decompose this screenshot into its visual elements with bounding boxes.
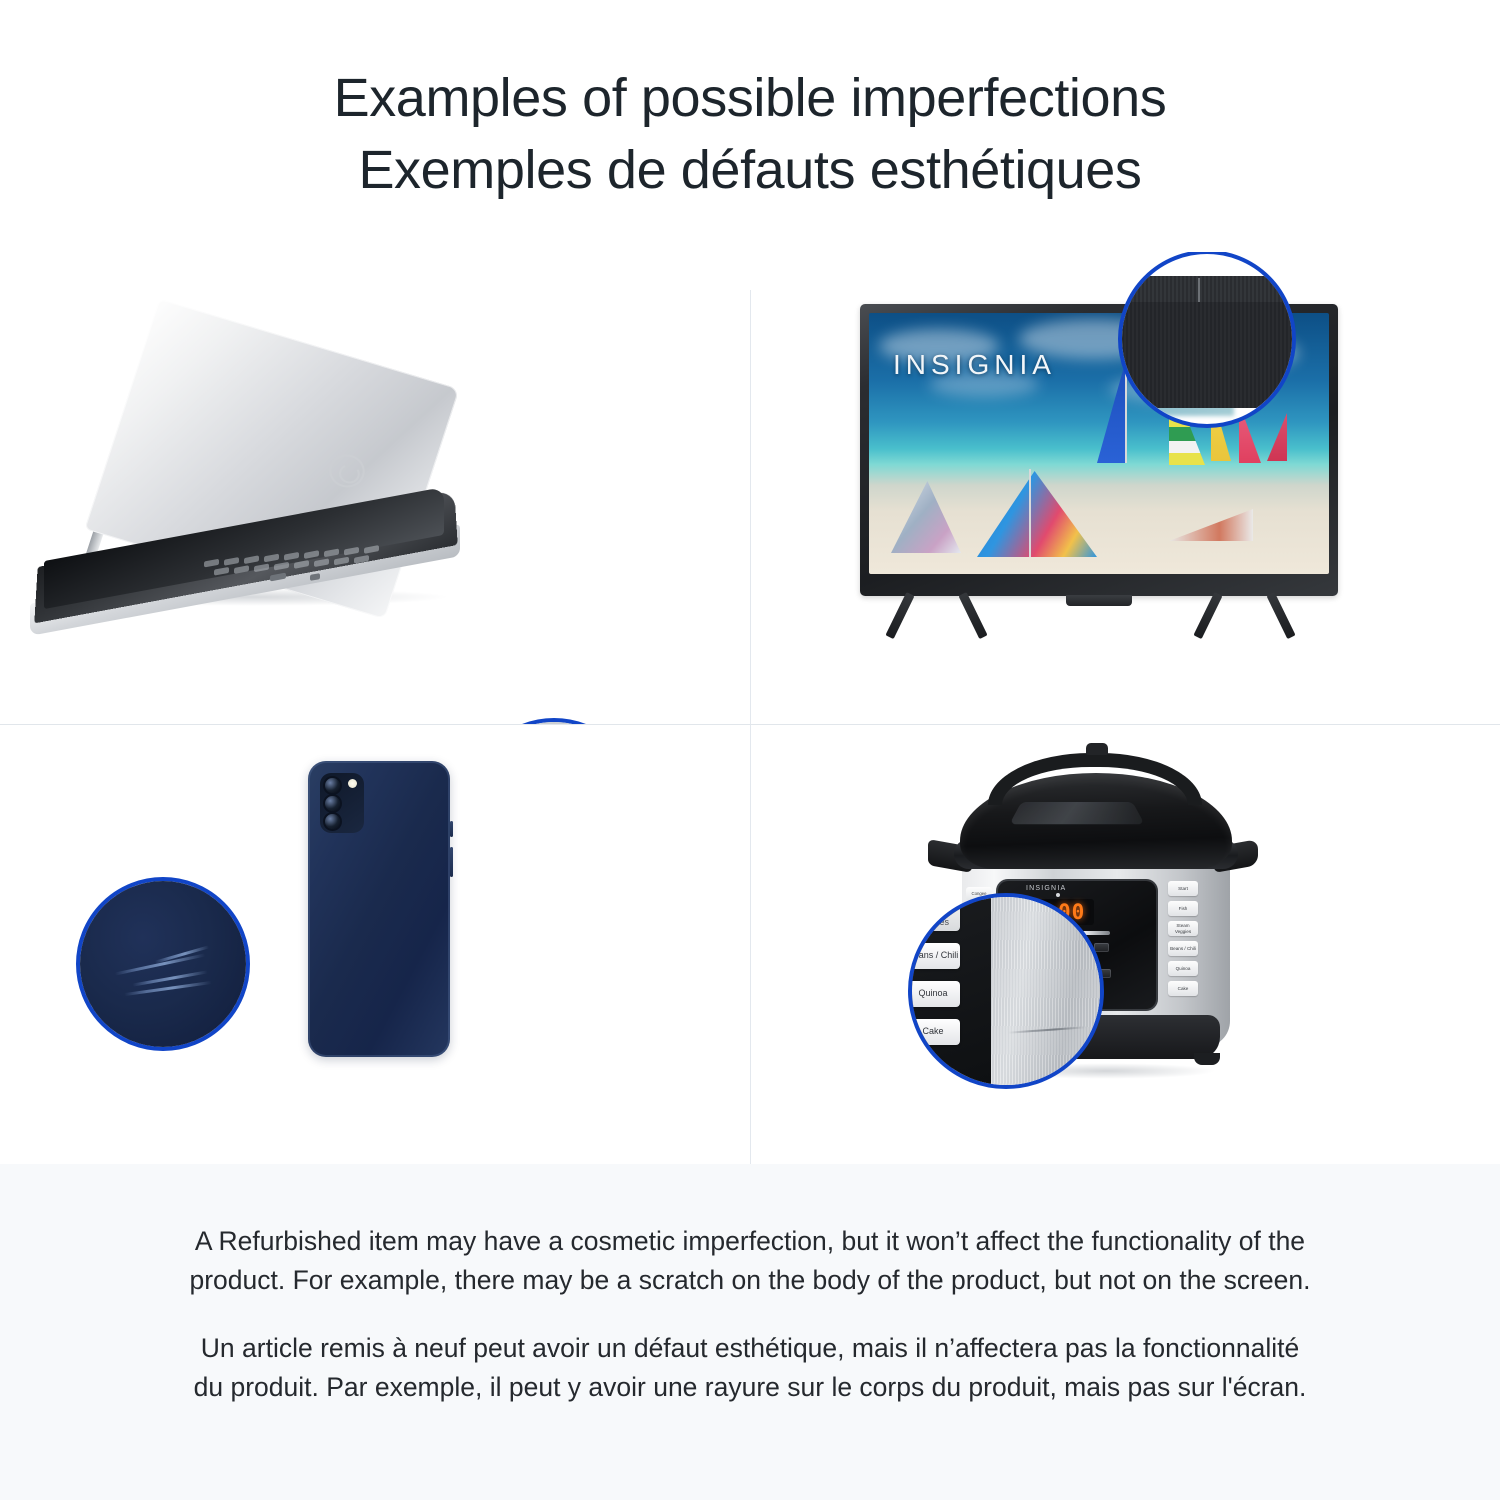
- cooker-button-quinoa[interactable]: Quinoa: [1168, 961, 1198, 976]
- television-leg-left: [896, 594, 992, 638]
- smartphone-power-button[interactable]: [450, 821, 453, 837]
- page-footer: A Refurbished item may have a cosmetic i…: [0, 1164, 1500, 1500]
- footer-paragraph-french: Un article remis à neuf peut avoir un dé…: [185, 1329, 1315, 1406]
- camera-lens-1: [325, 778, 340, 793]
- magnified-button-beanschili[interactable]: Beans / Chili: [908, 943, 960, 969]
- cooker-brand-logo: INSIGNIA: [1026, 885, 1066, 892]
- cooker-pressure-valve-icon[interactable]: [1086, 743, 1108, 755]
- laptop-base: [30, 528, 460, 602]
- example-cell-laptop: [0, 252, 750, 724]
- television-brand-logo: INSIGNIA: [893, 349, 1056, 381]
- example-cell-pressure-cooker: Congee Rice Multi Grain Soup Slow Cook R…: [750, 725, 1500, 1164]
- television-leg-right: [1204, 594, 1300, 638]
- refurbished-imperfections-infographic: Examples of possible imperfections Exemp…: [0, 0, 1500, 1500]
- page-title-english: Examples of possible imperfections: [334, 62, 1167, 134]
- television-stand-bar: [1066, 595, 1132, 606]
- examples-grid: INSIGNIA: [0, 252, 1500, 1164]
- cooker-lid-vent-panel: [1009, 802, 1144, 824]
- smartphone-volume-button[interactable]: [450, 847, 453, 877]
- cooker-button-start[interactable]: Start: [1168, 881, 1198, 896]
- camera-lens-2: [325, 796, 340, 811]
- cooker-lid-handle[interactable]: [988, 753, 1202, 805]
- camera-lens-3: [325, 814, 340, 829]
- cooker-button-cake[interactable]: Cake: [1168, 981, 1198, 996]
- magnified-button-cake[interactable]: Cake: [908, 1019, 960, 1045]
- magnified-scuff-television: [1198, 278, 1200, 302]
- example-cell-smartphone: [0, 725, 750, 1164]
- magnified-lid-surface: [470, 722, 638, 724]
- magnifier-circle-cooker: Steam Veggies Beans / Chili Quinoa Cake …: [908, 893, 1104, 1089]
- page-header: Examples of possible imperfections Exemp…: [0, 0, 1500, 252]
- cooker-foot-right: [1194, 1053, 1220, 1065]
- smartphone-illustration: [290, 761, 470, 1101]
- magnified-brushed-steel: [991, 897, 1100, 1085]
- camera-flash-icon: [348, 779, 357, 788]
- cooker-button-fish[interactable]: Fish: [1168, 901, 1198, 916]
- smartphone-camera-module: [320, 773, 364, 833]
- magnified-bezel-top: [1118, 276, 1284, 302]
- footer-paragraph-english: A Refurbished item may have a cosmetic i…: [185, 1222, 1315, 1299]
- magnified-button-steamveggies[interactable]: Steam Veggies: [908, 905, 960, 931]
- cooker-button-beanschili[interactable]: Beans / Chili: [1168, 941, 1198, 956]
- example-cell-television: INSIGNIA: [750, 252, 1500, 724]
- magnifier-circle-television: [1118, 252, 1296, 428]
- magnifier-circle-smartphone: [76, 877, 250, 1051]
- page-title-french: Exemples de défauts esthétiques: [358, 134, 1141, 206]
- laptop-illustration: [30, 332, 510, 632]
- magnifier-circle-laptop: [466, 718, 642, 724]
- cooker-button-steamveggies[interactable]: Steam Veggies: [1168, 921, 1198, 936]
- smartphone-body: [308, 761, 450, 1057]
- magnified-button-quinoa[interactable]: Quinoa: [908, 981, 960, 1007]
